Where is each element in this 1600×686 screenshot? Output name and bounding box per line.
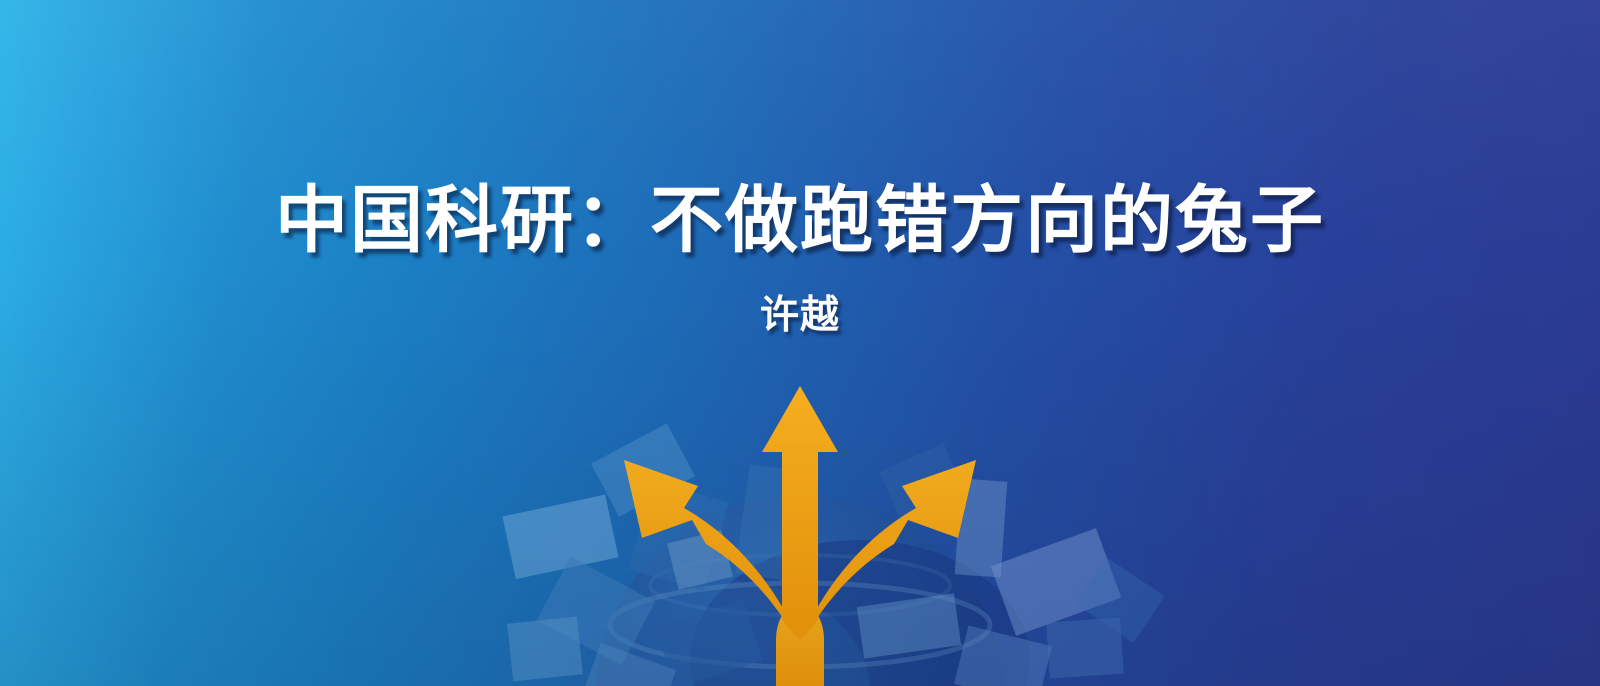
title-slide: 中国科研：不做跑错方向的兔子 许越 — [0, 0, 1600, 686]
cover-artwork — [0, 0, 1600, 686]
